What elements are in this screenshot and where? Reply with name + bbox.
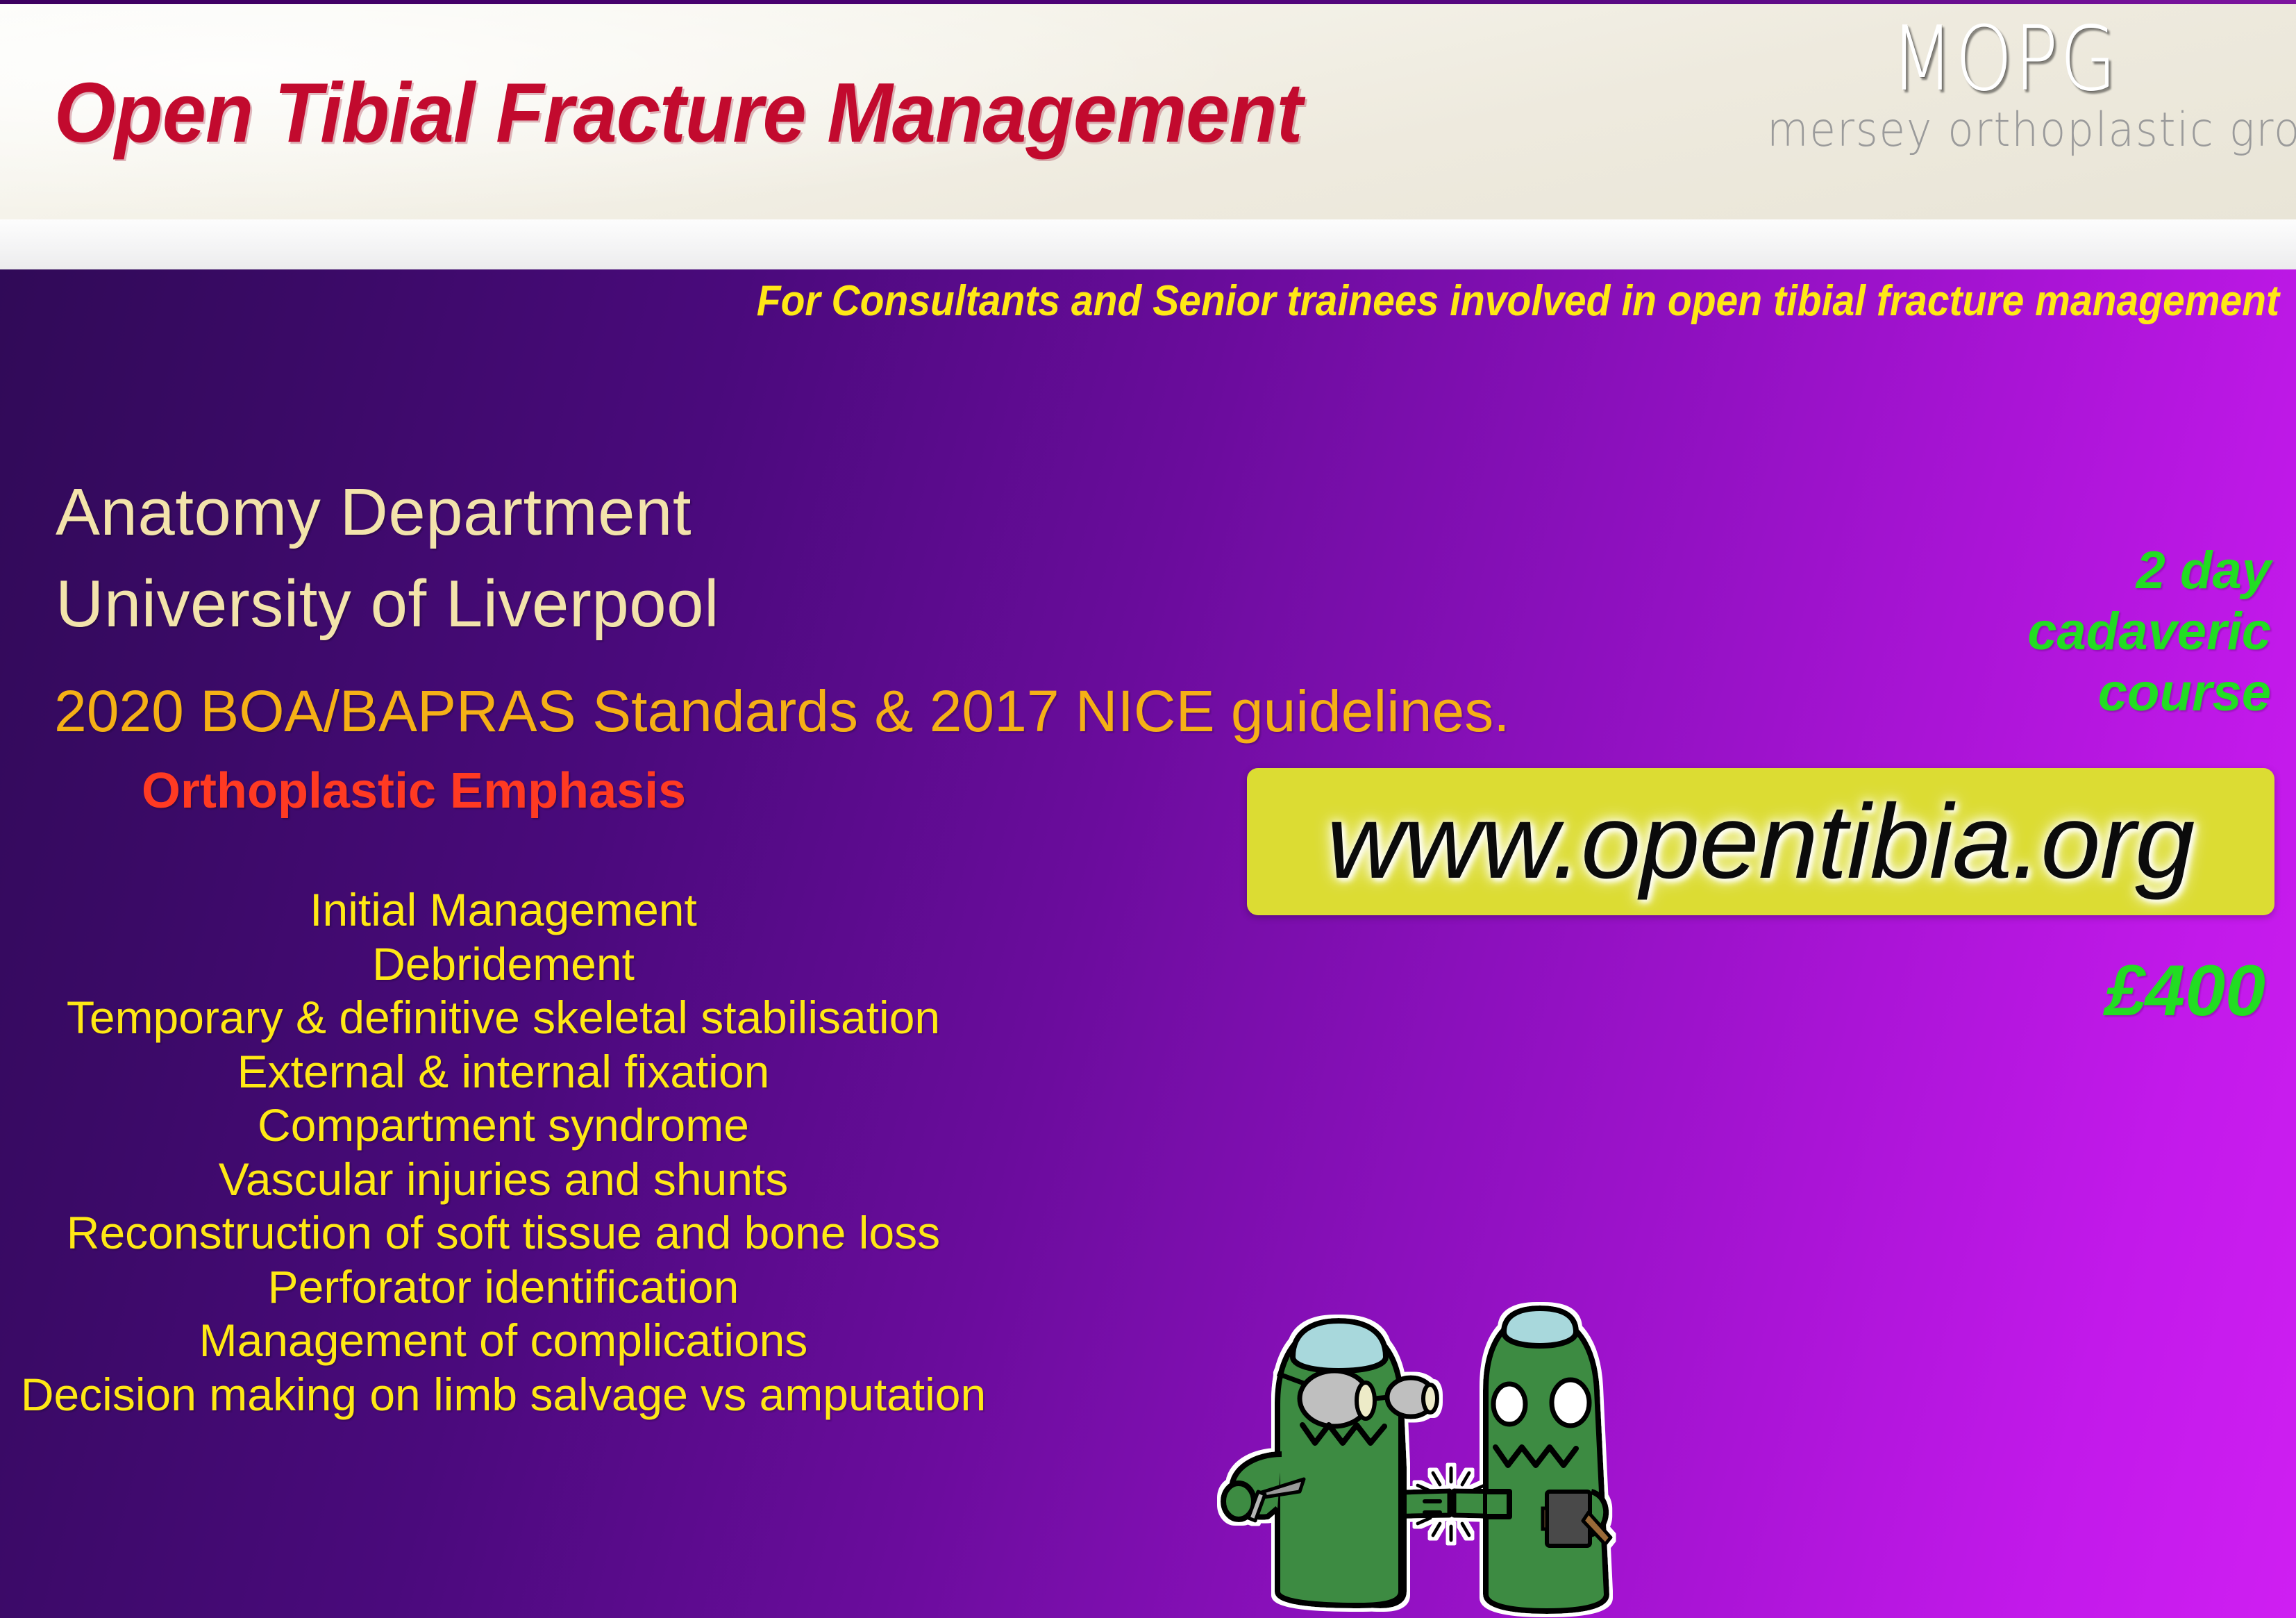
- header-lower-strip: [0, 219, 2296, 269]
- venue-institution: University of Liverpool: [56, 558, 719, 650]
- left-surgeon-cap: [1293, 1321, 1386, 1371]
- course-price: £400: [2105, 950, 2265, 1033]
- course-format-badge: 2 day cadaveric course: [1785, 540, 2271, 724]
- list-item: Management of complications: [0, 1314, 1007, 1368]
- course-format-line-1: 2 day: [1785, 540, 2271, 601]
- guidelines-line: 2020 BOA/BAPRAS Standards & 2017 NICE gu…: [54, 679, 1510, 743]
- list-item: Perforator identification: [0, 1260, 1007, 1315]
- list-item: Decision making on limb salvage vs amput…: [0, 1368, 1007, 1422]
- topic-list: Initial Management Debridement Temporary…: [0, 883, 1007, 1421]
- poster-root: Open Tibial Fracture Management MOPG mer…: [0, 0, 2296, 1618]
- list-item: Temporary & definitive skeletal stabilis…: [0, 991, 1007, 1045]
- audience-tagline: For Consultants and Senior trainees invo…: [757, 276, 2279, 326]
- course-format-line-2: cadaveric: [1785, 601, 2271, 662]
- mopg-logo: MOPG mersey orthoplastic group: [1741, 15, 2268, 154]
- surgeon-left: [1223, 1321, 1437, 1606]
- right-surgeon-cap: [1504, 1308, 1576, 1346]
- venue-block: Anatomy Department University of Liverpo…: [56, 467, 719, 651]
- list-item: Initial Management: [0, 883, 1007, 937]
- list-item: Vascular injuries and shunts: [0, 1153, 1007, 1207]
- right-surgeon-eye-left: [1493, 1384, 1525, 1424]
- venue-department: Anatomy Department: [56, 467, 719, 558]
- emphasis-label: Orthoplastic Emphasis: [142, 762, 686, 819]
- right-surgeon-eye-right: [1552, 1380, 1589, 1426]
- list-item: External & internal fixation: [0, 1045, 1007, 1099]
- list-item: Debridement: [0, 937, 1007, 992]
- website-url-text[interactable]: www.opentibia.org: [1327, 781, 2195, 903]
- page-title: Open Tibial Fracture Management: [54, 64, 1302, 161]
- top-accent-rule: [0, 0, 2296, 4]
- surgeons-group: [1223, 1308, 1611, 1611]
- mopg-logo-mark: MOPG: [1788, 15, 2220, 104]
- surgeons-fist-bump-svg: [1196, 1293, 1640, 1618]
- course-format-line-3: course: [1785, 662, 2271, 724]
- surgeons-fist-bump-illustration: [1196, 1293, 1640, 1618]
- list-item: Reconstruction of soft tissue and bone l…: [0, 1206, 1007, 1260]
- list-item: Compartment syndrome: [0, 1099, 1007, 1153]
- surgeon-right: [1486, 1308, 1611, 1611]
- mopg-logo-subtitle: mersey orthoplastic group: [1767, 107, 2242, 154]
- website-url-box[interactable]: www.opentibia.org: [1247, 768, 2274, 915]
